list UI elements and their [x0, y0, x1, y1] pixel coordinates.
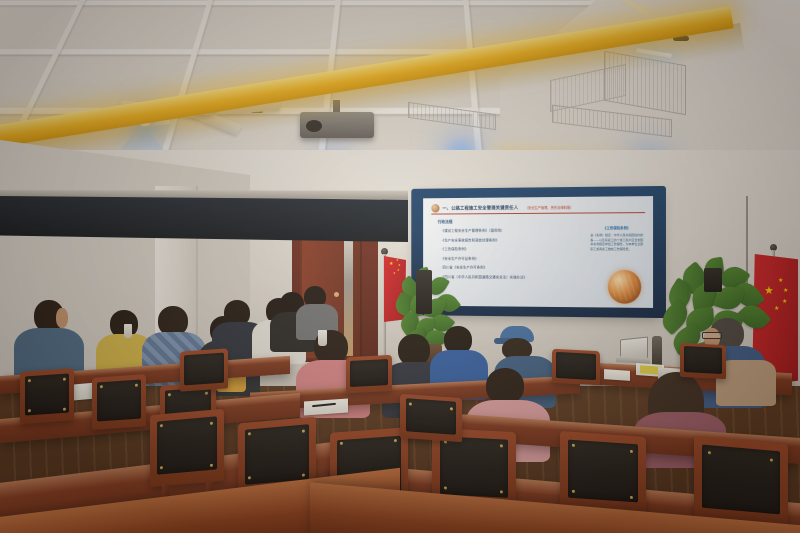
chair[interactable]	[180, 348, 228, 391]
slide-side-title: 《工伤保险条例》	[590, 226, 643, 231]
chair[interactable]	[694, 436, 788, 528]
chair[interactable]	[92, 374, 146, 430]
water-cup-2	[124, 324, 132, 338]
slide-title: 一、公路工程施工安全管理关键责任人	[442, 205, 518, 211]
eyeglasses	[702, 332, 722, 339]
slide-bullet: ·《安全生产许可证条例》	[441, 257, 561, 262]
slide-bullet: ·《工伤保险条例》	[441, 247, 561, 252]
slide-side-body: 第《条例》规定：中华人民共和国境内的各——以及有雇工的个体工商户应当依照本条例规…	[590, 233, 643, 251]
chair[interactable]	[20, 368, 74, 424]
led-display-banner	[0, 196, 408, 242]
conference-room-photo: 一、公路工程施工安全管理关键责任人 （安全生产管理、责任法律制度） 行政法规 ·…	[0, 0, 800, 533]
chair[interactable]	[400, 394, 462, 442]
slide-title-note: （安全生产管理、责任法律制度）	[525, 205, 574, 210]
slide-bullet: ·《生产安全事故报告和调查处理条例》	[441, 238, 561, 243]
slide-title-rule	[431, 212, 645, 214]
loose-papers	[604, 369, 630, 381]
water-cup	[318, 330, 327, 346]
slide-bullet: ·《建设工程安全生产管理条例》（国务院）	[441, 228, 561, 233]
chair[interactable]	[680, 343, 726, 379]
speaker-column	[416, 270, 432, 314]
slide-section-label: 行政法规	[438, 219, 453, 225]
chair[interactable]	[346, 355, 392, 393]
chair[interactable]	[552, 349, 600, 386]
globe-graphic-icon	[608, 270, 641, 304]
chair[interactable]	[560, 431, 646, 515]
chair[interactable]	[150, 409, 224, 487]
slide-side-panel: 《工伤保险条例》 第《条例》规定：中华人民共和国境内的各——以及有雇工的个体工商…	[590, 226, 643, 251]
wall-speaker	[704, 268, 722, 292]
door-handle[interactable]	[334, 292, 339, 297]
thermos-flask	[652, 336, 662, 366]
slide-bullet-icon	[431, 204, 439, 213]
